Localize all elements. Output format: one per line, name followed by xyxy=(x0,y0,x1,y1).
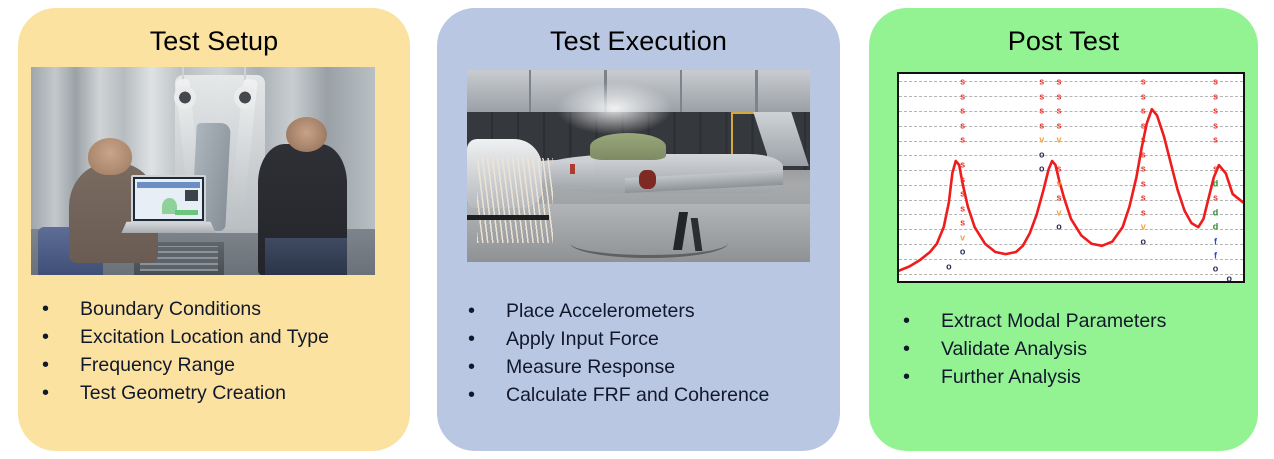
bullet-icon: • xyxy=(903,307,941,335)
stabilization-marker-d: d xyxy=(1213,179,1219,188)
list-item-label: Boundary Conditions xyxy=(80,295,261,323)
stabilization-marker-s: s xyxy=(1213,121,1218,130)
photo-fighter-jet-in-hangar xyxy=(467,70,810,262)
laptop-base xyxy=(121,222,216,234)
bullet-icon: • xyxy=(42,351,80,379)
process-diagram: Test Setup xyxy=(0,0,1274,459)
list-item-label: Extract Modal Parameters xyxy=(941,307,1166,335)
stabilization-marker-d: d xyxy=(1213,208,1219,217)
stabilization-marker-s: s xyxy=(1141,136,1146,145)
aircraft-red-cover xyxy=(639,170,656,189)
stabilization-marker-o: o xyxy=(1056,223,1062,232)
stabilization-marker-o: o xyxy=(946,262,952,271)
bullet-icon: • xyxy=(42,295,80,323)
stabilization-marker-s: s xyxy=(960,136,965,145)
engineer-seated-head xyxy=(88,138,133,175)
stabilization-marker-s: s xyxy=(1141,150,1146,159)
stabilization-marker-s: s xyxy=(1213,136,1218,145)
list-item: •Excitation Location and Type xyxy=(42,323,410,351)
stabilization-marker-s: s xyxy=(1056,107,1061,116)
stabilization-marker-v: v xyxy=(1056,136,1061,145)
stabilization-marker-v: v xyxy=(960,233,965,242)
bullet-icon: • xyxy=(468,381,506,409)
list-item: •Boundary Conditions xyxy=(42,295,410,323)
list-item-label: Frequency Range xyxy=(80,351,235,379)
frf-curve xyxy=(899,74,1243,281)
stabilization-marker-s: s xyxy=(1141,194,1146,203)
list-item: •Frequency Range xyxy=(42,351,410,379)
stabilization-marker-s: s xyxy=(960,161,965,170)
stabilization-marker-s: s xyxy=(1141,78,1146,87)
pulley-left xyxy=(174,86,196,109)
photo-background xyxy=(467,70,810,262)
list-item: •Extract Modal Parameters xyxy=(903,307,1258,335)
stabilization-marker-s: s xyxy=(1141,208,1146,217)
bullet-icon: • xyxy=(903,363,941,391)
list-item-label: Test Geometry Creation xyxy=(80,379,286,407)
stabilization-marker-s: s xyxy=(1213,92,1218,101)
stabilization-marker-o: o xyxy=(960,248,966,257)
list-item-label: Excitation Location and Type xyxy=(80,323,329,351)
stabilization-marker-s: s xyxy=(1056,78,1061,87)
stabilization-marker-s: s xyxy=(1056,92,1061,101)
stabilization-marker-v: v xyxy=(1141,223,1146,232)
aircraft-red-marker xyxy=(570,164,575,174)
laptop-panel xyxy=(185,190,199,202)
stabilization-marker-s: s xyxy=(960,121,965,130)
list-item: •Test Geometry Creation xyxy=(42,379,410,407)
stabilization-marker-s: s xyxy=(1056,165,1061,174)
bullet-icon: • xyxy=(468,353,506,381)
stabilization-marker-s: s xyxy=(1056,194,1061,203)
list-item: •Apply Input Force xyxy=(468,325,840,353)
list-item-label: Apply Input Force xyxy=(506,325,659,353)
stabilization-marker-f: f xyxy=(1214,237,1217,246)
stabilization-marker-s: s xyxy=(1039,121,1044,130)
stabilization-marker-s: s xyxy=(1039,107,1044,116)
bullet-icon: • xyxy=(42,323,80,351)
engineer-standing-jeans xyxy=(265,238,348,275)
stabilization-marker-s: s xyxy=(960,107,965,116)
list-item-label: Measure Response xyxy=(506,353,675,381)
list-item-label: Further Analysis xyxy=(941,363,1081,391)
bullet-icon: • xyxy=(468,297,506,325)
list-item: •Calculate FRF and Coherence xyxy=(468,381,840,409)
stabilization-marker-v: v xyxy=(1056,179,1061,188)
pulley-right xyxy=(234,86,256,109)
panel-title-test-setup: Test Setup xyxy=(18,26,410,57)
laptop-toolbar xyxy=(137,182,199,188)
stabilization-marker-s: s xyxy=(1039,92,1044,101)
bullet-list-post-test: •Extract Modal Parameters •Validate Anal… xyxy=(869,307,1258,391)
stabilization-marker-s: s xyxy=(960,175,965,184)
list-item-label: Calculate FRF and Coherence xyxy=(506,381,769,409)
stabilization-marker-d: d xyxy=(1213,223,1219,232)
bullet-list-test-setup: •Boundary Conditions •Excitation Locatio… xyxy=(18,295,410,407)
stabilization-marker-s: s xyxy=(960,92,965,101)
roof-beam xyxy=(755,70,758,112)
stabilization-marker-s: s xyxy=(1213,107,1218,116)
list-item: •Validate Analysis xyxy=(903,335,1258,363)
stabilization-marker-v: v xyxy=(1039,136,1044,145)
stabilization-marker-o: o xyxy=(1039,165,1045,174)
stabilization-marker-s: s xyxy=(1141,92,1146,101)
panel-test-setup: Test Setup xyxy=(18,8,410,451)
panel-test-execution: Test Execution xyxy=(437,8,840,451)
laptop-screen-content xyxy=(135,179,203,219)
list-item-label: Validate Analysis xyxy=(941,335,1087,363)
roof-beam xyxy=(529,70,532,112)
stabilization-marker-o: o xyxy=(1140,237,1146,246)
bullet-icon: • xyxy=(42,379,80,407)
stabilization-marker-s: s xyxy=(960,219,965,228)
window-glare xyxy=(556,82,673,136)
stabilization-marker-s: s xyxy=(1213,78,1218,87)
stabilization-marker-s: s xyxy=(960,204,965,213)
stabilization-marker-s: s xyxy=(1056,121,1061,130)
stabilization-marker-v: v xyxy=(1056,208,1061,217)
roof-beam xyxy=(680,70,683,112)
stabilization-marker-s: s xyxy=(1141,165,1146,174)
panel-post-test: Post Test ssssssssssvoossssvoossssvsvsvo… xyxy=(869,8,1258,451)
list-item: •Further Analysis xyxy=(903,363,1258,391)
bullet-icon: • xyxy=(903,335,941,363)
laptop-screen xyxy=(131,175,207,223)
photo-lab-shaker-test-setup xyxy=(31,67,375,275)
bullet-icon: • xyxy=(468,325,506,353)
stabilization-marker-s: s xyxy=(1213,165,1218,174)
stabilization-marker-o: o xyxy=(1039,150,1045,159)
chart-plot-area: ssssssssssvoossssvoossssvsvsvossssssssss… xyxy=(899,74,1243,281)
list-item: •Place Accelerometers xyxy=(468,297,840,325)
stabilization-marker-o: o xyxy=(1213,264,1219,273)
aircraft-canopy xyxy=(590,133,665,160)
stabilization-marker-s: s xyxy=(960,78,965,87)
stabilization-marker-s: s xyxy=(1141,121,1146,130)
stabilization-marker-s: s xyxy=(1141,179,1146,188)
panel-title-test-execution: Test Execution xyxy=(437,26,840,57)
chart-stabilization-diagram: ssssssssssvoossssvoossssvsvsvossssssssss… xyxy=(897,72,1245,283)
stabilization-marker-s: s xyxy=(1213,194,1218,203)
list-item-label: Place Accelerometers xyxy=(506,297,695,325)
stabilization-marker-s: s xyxy=(1039,78,1044,87)
photo-background xyxy=(31,67,375,275)
engineer-standing-head xyxy=(286,117,327,152)
stabilization-marker-f: f xyxy=(1214,252,1217,261)
stabilization-marker-o: o xyxy=(1226,274,1232,283)
floor-hose xyxy=(570,228,728,258)
stabilization-marker-s: s xyxy=(960,190,965,199)
panel-title-post-test: Post Test xyxy=(869,26,1258,57)
laptop-status-bar xyxy=(175,210,197,215)
bullet-list-test-execution: •Place Accelerometers •Apply Input Force… xyxy=(437,297,840,409)
list-item: •Measure Response xyxy=(468,353,840,381)
stabilization-marker-s: s xyxy=(1141,107,1146,116)
